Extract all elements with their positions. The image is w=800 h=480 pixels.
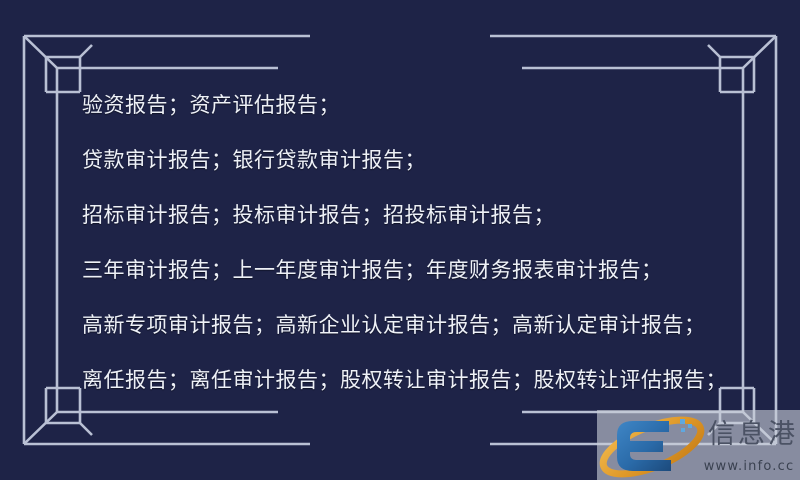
report-line-6: 离任报告；离任审计报告；股权转让审计报告；股权转让评估报告；: [82, 353, 742, 408]
report-line-2: 贷款审计报告；银行贷款审计报告；: [82, 133, 742, 188]
report-line-1: 验资报告；资产评估报告；: [82, 78, 742, 133]
slide-canvas: 验资报告；资产评估报告； 贷款审计报告；银行贷款审计报告； 招标审计报告；投标审…: [0, 0, 800, 480]
brand-logo-icon: [597, 410, 707, 480]
report-line-3: 招标审计报告；投标审计报告；招投标审计报告；: [82, 188, 742, 243]
report-list: 验资报告；资产评估报告； 贷款审计报告；银行贷款审计报告； 招标审计报告；投标审…: [82, 78, 742, 408]
brand-name-cn: 信息港: [705, 414, 800, 456]
report-line-5: 高新专项审计报告；高新企业认定审计报告；高新认定审计报告；: [82, 298, 742, 353]
brand-url: www.info.cc: [697, 457, 800, 476]
report-line-4: 三年审计报告；上一年度审计报告；年度财务报表审计报告；: [82, 243, 742, 298]
watermark: 信息港 www.info.cc: [597, 410, 800, 480]
